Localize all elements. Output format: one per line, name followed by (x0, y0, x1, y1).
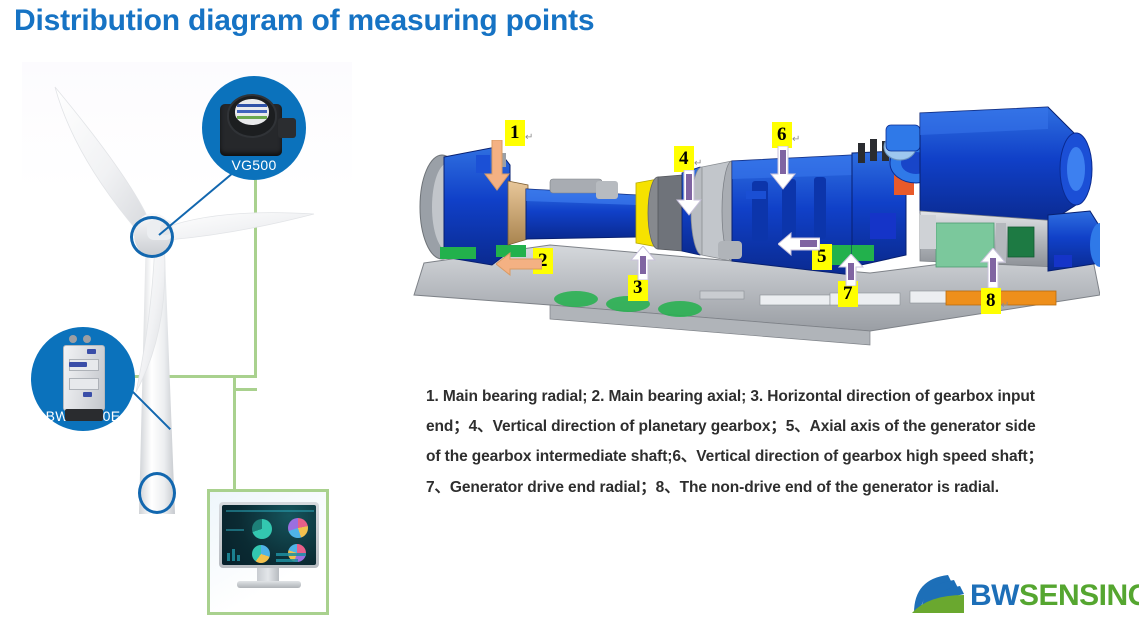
callout-7-arrow-up (838, 254, 864, 286)
monitor-stand-foot (237, 581, 301, 588)
monitor-bezel (219, 502, 319, 568)
callout-3-arrow-up (630, 246, 656, 280)
slide-root: Distribution diagram of measuring points (0, 0, 1139, 637)
dashboard-pie-2 (288, 518, 308, 538)
callout-6-return-mark: ↵ (792, 134, 800, 145)
callout-5-arrow-left (778, 232, 820, 256)
page-title: Distribution diagram of measuring points (14, 4, 594, 38)
sensor-bubble-bws5700e[interactable]: BWS5700E (31, 327, 135, 431)
wind-turbine-system-illustration: VG500 BWS5700E (22, 62, 352, 562)
monitor-screen (222, 505, 316, 565)
vibration-transmitter-icon (37, 333, 129, 405)
callout-2-arrow-left (496, 252, 542, 276)
measuring-points-caption: 1. Main bearing radial; 2. Main bearing … (426, 382, 1054, 503)
callout-8-number: 8 (981, 288, 1001, 314)
bwsensing-logo-mark (908, 573, 966, 617)
callout-4-number: 4 (674, 146, 694, 172)
callout-1-return-mark: ↵ (525, 132, 533, 143)
monitor-stand-neck (257, 568, 279, 582)
dashboard-pie-1 (252, 519, 272, 539)
inclinometer-sensor-icon (204, 88, 304, 158)
bwsensing-logo-text: BWSENSING (970, 579, 1139, 613)
callout-6-arrow-down (770, 146, 796, 190)
callout-8-return-mark: ↵ (1001, 300, 1009, 311)
logo-text-bw: BW (970, 579, 1019, 612)
monitoring-dashboard-display[interactable] (207, 489, 329, 615)
callout-4-arrow-down (676, 170, 702, 216)
sensor-label-vg500: VG500 (231, 158, 276, 172)
tower-base-highlight (138, 472, 176, 514)
callout-1-arrow-down (484, 140, 510, 192)
sensor-bubble-vg500[interactable]: VG500 (202, 76, 306, 180)
bwsensing-logo: BWSENSING (908, 573, 1134, 619)
callout-8-arrow-up (980, 248, 1006, 288)
dashboard-pie-3 (252, 545, 270, 563)
nacelle-hub-highlight (130, 216, 174, 258)
callout-4-return-mark: ↵ (694, 158, 702, 169)
callout-6-number: 6 (772, 122, 792, 148)
logo-text-sensing: SENSING (1019, 579, 1139, 612)
